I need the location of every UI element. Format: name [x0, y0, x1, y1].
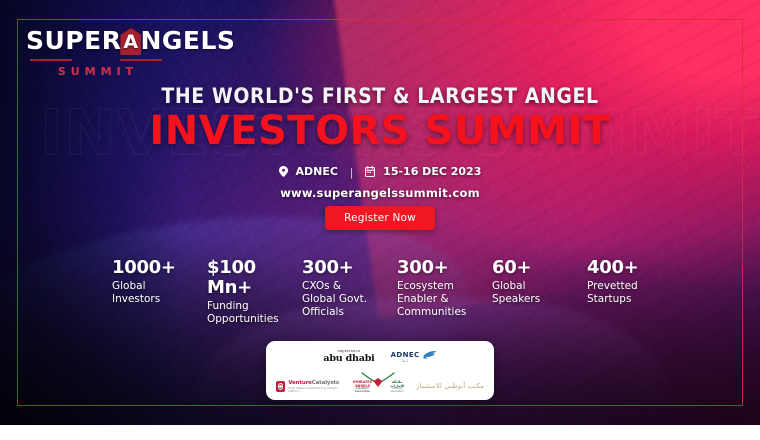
sponsor-row-bottom: VentureCatalysts Early Stage Investment …: [276, 380, 484, 394]
stat-number: $100 Mn+: [207, 258, 292, 298]
stat-label: CXOs &Global Govt.Officials: [302, 280, 387, 319]
venue-group: ADNEC: [279, 165, 338, 180]
emirates-angels-arabic-tag: Investors Association: [388, 388, 406, 394]
stat-label: GlobalSpeakers: [492, 280, 577, 306]
emirates-angels-tag: Investors Association: [351, 388, 375, 394]
abu-dhabi-name: abu dhabi: [323, 354, 374, 364]
logo-wordmark: SUPERANGELS: [26, 28, 166, 55]
logo-rule-divider: [26, 57, 166, 63]
adnec-name: ADNEC: [391, 352, 420, 359]
superangels-logo[interactable]: SUPERANGELS SUMMIT: [26, 28, 166, 78]
event-meta-line: ADNEC | 15-16 DEC 2023: [0, 165, 760, 180]
vc-word-1: Venture: [288, 380, 311, 386]
stat-item: 60+ GlobalSpeakers: [492, 258, 577, 306]
venture-catalysts-tagline: Early Stage Investment & Incubation Plat…: [288, 387, 340, 392]
adnec-text: ADNEC أدنيك: [391, 352, 420, 363]
stat-number: 300+: [397, 258, 482, 278]
vc-word-2: Catalysts: [312, 380, 339, 386]
stat-number: 300+: [302, 258, 387, 278]
stat-label: GlobalInvestors: [112, 280, 197, 306]
date-group: 15-16 DEC 2023: [365, 165, 481, 180]
logo-letter-a: A: [120, 33, 141, 52]
hero-heading-block: THE WORLD'S FIRST & LARGEST ANGEL INVEST…: [0, 84, 760, 152]
stat-number: 60+: [492, 258, 577, 278]
stat-label: FundingOpportunities: [207, 300, 292, 326]
sponsor-abu-dhabi-logo[interactable]: experience abu dhabi: [323, 350, 374, 363]
sponsor-adnec-logo[interactable]: ADNEC أدنيك: [391, 348, 437, 366]
stat-item: 300+ CXOs &Global Govt.Officials: [302, 258, 387, 319]
event-poster: SUPERANGELS SUMMIT INVESTORS SUMMIT THE …: [0, 0, 760, 425]
stats-row: 1000+ GlobalInvestors $100 Mn+ FundingOp…: [112, 258, 672, 326]
shield-icon: A: [120, 28, 141, 55]
website-url[interactable]: www.superangelssummit.com: [0, 186, 760, 200]
map-pin-icon: [279, 166, 288, 180]
adnec-arabic: أدنيك: [391, 360, 420, 363]
venture-catalysts-text: VentureCatalysts Early Stage Investment …: [288, 381, 340, 393]
sponsor-logos-panel: experience abu dhabi ADNEC أدنيك Venture…: [266, 341, 494, 400]
meta-separator: |: [350, 166, 354, 179]
stat-item: $100 Mn+ FundingOpportunities: [207, 258, 292, 326]
stat-item: 400+ PrevettedStartups: [587, 258, 672, 306]
logo-subtitle: SUMMIT: [26, 65, 166, 78]
falcon-icon: [422, 348, 437, 366]
logo-word-ngels: NGELS: [140, 26, 235, 55]
sponsor-venture-catalysts-logo[interactable]: VentureCatalysts Early Stage Investment …: [276, 381, 341, 393]
stat-item: 300+ EcosystemEnabler &Communities: [397, 258, 482, 319]
register-now-button[interactable]: Register Now: [325, 206, 435, 230]
hero-title: INVESTORS SUMMIT: [0, 110, 760, 152]
calendar-icon: [365, 166, 375, 180]
venue-name: ADNEC: [295, 165, 337, 178]
cta-container: Register Now: [0, 206, 760, 230]
logo-word-super: SUPER: [26, 26, 121, 55]
sponsor-arabic-logo[interactable]: مكتب أبوظبي للاستثمار: [416, 383, 484, 390]
hero-kicker: THE WORLD'S FIRST & LARGEST ANGEL: [0, 84, 760, 108]
page-bottom-strip: [0, 425, 760, 440]
stat-item: 1000+ GlobalInvestors: [112, 258, 197, 306]
venture-catalysts-emblem-icon: [276, 381, 285, 392]
event-date: 15-16 DEC 2023: [383, 165, 481, 178]
stat-label: EcosystemEnabler &Communities: [397, 280, 482, 319]
stat-label: PrevettedStartups: [587, 280, 672, 306]
sponsor-row-top: experience abu dhabi ADNEC أدنيك: [276, 348, 484, 366]
stat-number: 1000+: [112, 258, 197, 278]
stat-number: 400+: [587, 258, 672, 278]
wings-icon: [361, 372, 395, 388]
sponsor-emirates-angels-logo[interactable]: EMIRATES ANGELS Investors Association مل…: [351, 380, 406, 394]
